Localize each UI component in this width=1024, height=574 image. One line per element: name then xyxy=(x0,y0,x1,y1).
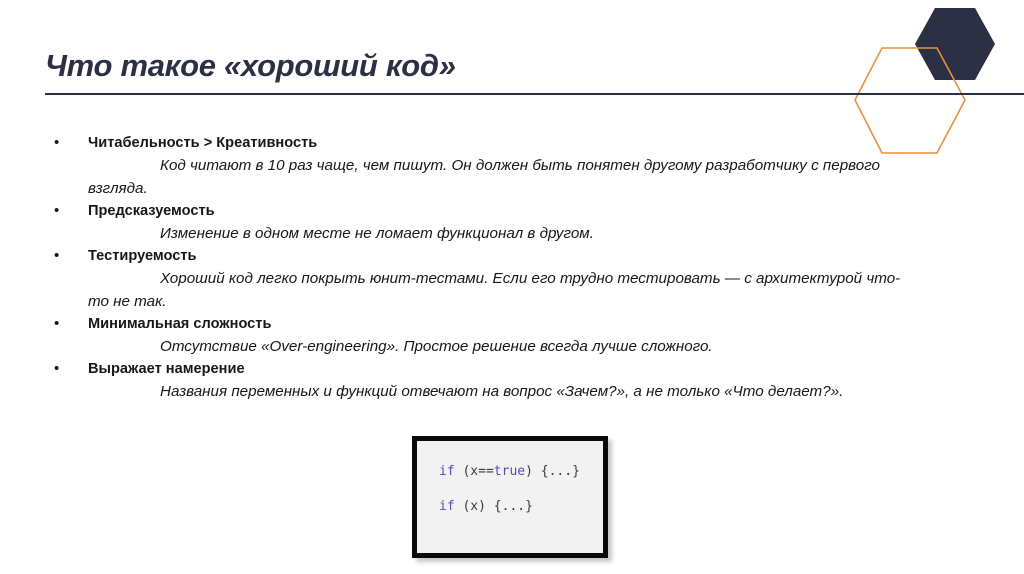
list-item: • Читабельность > Креативность Код читаю… xyxy=(0,132,1024,200)
bullet-marker: • xyxy=(54,358,59,380)
bullet-marker: • xyxy=(54,313,59,335)
list-item-heading: Читабельность > Креативность xyxy=(88,132,1024,154)
bullet-marker: • xyxy=(54,245,59,267)
list-item: • Минимальная сложность Отсутствие «Over… xyxy=(0,313,1024,358)
list-item-description: Хороший код легко покрыть юнит-тестами. … xyxy=(88,267,903,313)
code-token: (x) {...} xyxy=(455,499,533,514)
code-token: (x== xyxy=(455,464,494,479)
list-item-description: Код читают в 10 раз чаще, чем пишут. Он … xyxy=(88,154,903,200)
list-item-description: Отсутствие «Over-engineering». Простое р… xyxy=(88,335,903,358)
code-token: ) {...} xyxy=(525,464,580,479)
list-item-heading: Минимальная сложность xyxy=(88,313,1024,335)
code-keyword-true: true xyxy=(494,464,525,479)
code-line-1: if (x==true) {...} xyxy=(439,463,603,480)
list-item-heading: Предсказуемость xyxy=(88,200,1024,222)
code-keyword-if: if xyxy=(439,499,455,514)
bullet-marker: • xyxy=(54,132,59,154)
title-divider xyxy=(45,93,1024,95)
list-item-description: Изменение в одном месте не ломает функци… xyxy=(88,222,903,245)
list-item-heading: Тестируемость xyxy=(88,245,1024,267)
list-item: • Тестируемость Хороший код легко покрыт… xyxy=(0,245,1024,313)
page-title: Что такое «хороший код» xyxy=(45,48,456,84)
bullet-list: • Читабельность > Креативность Код читаю… xyxy=(0,132,1024,403)
hexagon-filled-icon xyxy=(915,8,995,80)
code-example-figure: if (x==true) {...} if (x) {...} xyxy=(412,436,608,558)
list-item: • Предсказуемость Изменение в одном мест… xyxy=(0,200,1024,245)
list-item-description: Названия переменных и функций отвечают н… xyxy=(88,380,903,403)
bullet-marker: • xyxy=(54,200,59,222)
list-item: • Выражает намерение Названия переменных… xyxy=(0,358,1024,403)
list-item-heading: Выражает намерение xyxy=(88,358,1024,380)
code-line-2: if (x) {...} xyxy=(439,498,603,515)
code-keyword-if: if xyxy=(439,464,455,479)
